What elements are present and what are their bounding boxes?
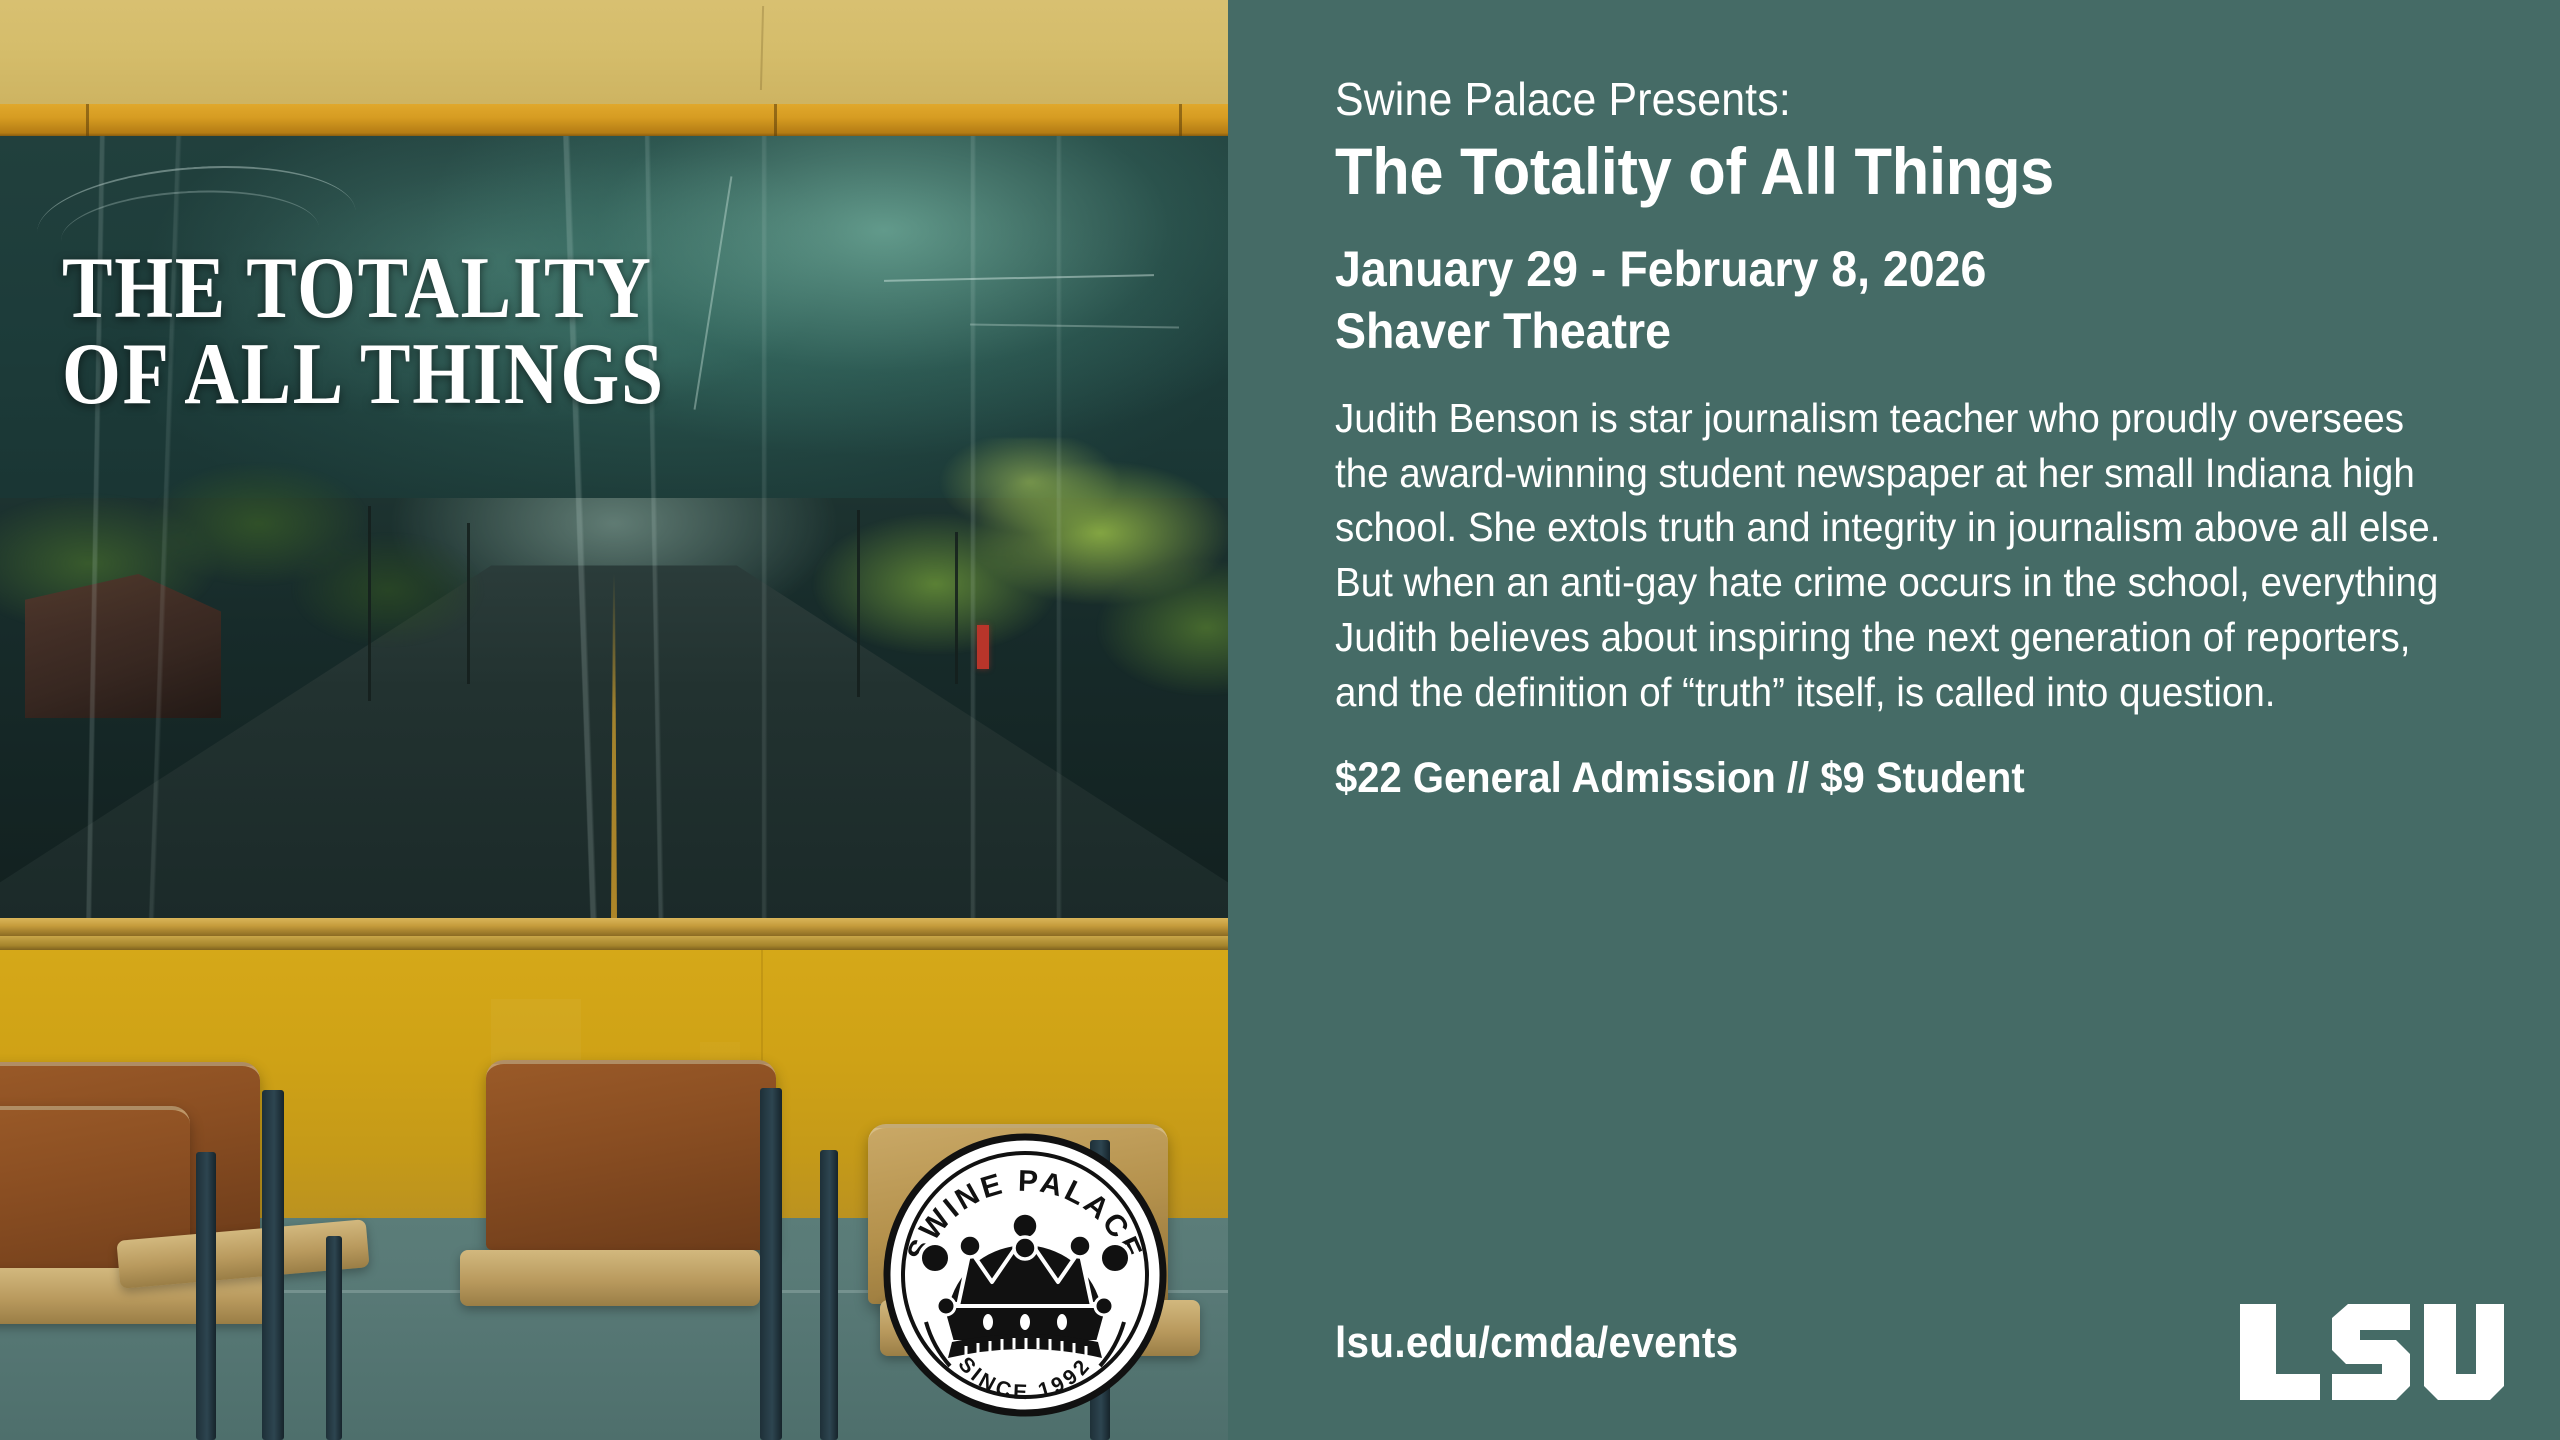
swine-palace-seal: SWINE PALACE SINCE 1992	[880, 1130, 1170, 1420]
poster-title: THE TOTALITY OF ALL THINGS	[62, 246, 665, 418]
presenter-line: Swine Palace Presents:	[1335, 75, 2432, 125]
desk-leg	[262, 1090, 284, 1440]
poster-title-line-2: OF ALL THINGS	[62, 332, 665, 418]
show-title: The Totality of All Things	[1335, 135, 2432, 209]
poster-title-line-1: THE TOTALITY	[62, 246, 665, 332]
desk-leg	[760, 1088, 782, 1440]
upper-wall	[0, 0, 1228, 108]
classroom-photo: THE TOTALITY OF ALL THINGS	[0, 0, 1228, 1440]
desk-backrest	[486, 1060, 776, 1250]
events-url[interactable]: lsu.edu/cmda/events	[1335, 1318, 1738, 1368]
lsu-logo	[2236, 1300, 2508, 1404]
desk-leg	[326, 1236, 342, 1440]
info-panel: Swine Palace Presents: The Totality of A…	[1228, 0, 2560, 1440]
run-dates: January 29 - February 8, 2026	[1335, 239, 2432, 299]
desk-leg	[196, 1152, 216, 1440]
synopsis-text: Judith Benson is star journalism teacher…	[1335, 391, 2454, 721]
promotional-poster: THE TOTALITY OF ALL THINGS	[0, 0, 2560, 1440]
chalkboard-top-rail	[0, 104, 1228, 138]
street-scene	[0, 498, 1228, 922]
red-sign	[977, 625, 989, 669]
ticket-price: $22 General Admission // $9 Student	[1335, 754, 2432, 803]
desk-seat	[460, 1250, 760, 1306]
desk-leg	[820, 1150, 838, 1440]
venue-name: Shaver Theatre	[1335, 301, 2432, 361]
